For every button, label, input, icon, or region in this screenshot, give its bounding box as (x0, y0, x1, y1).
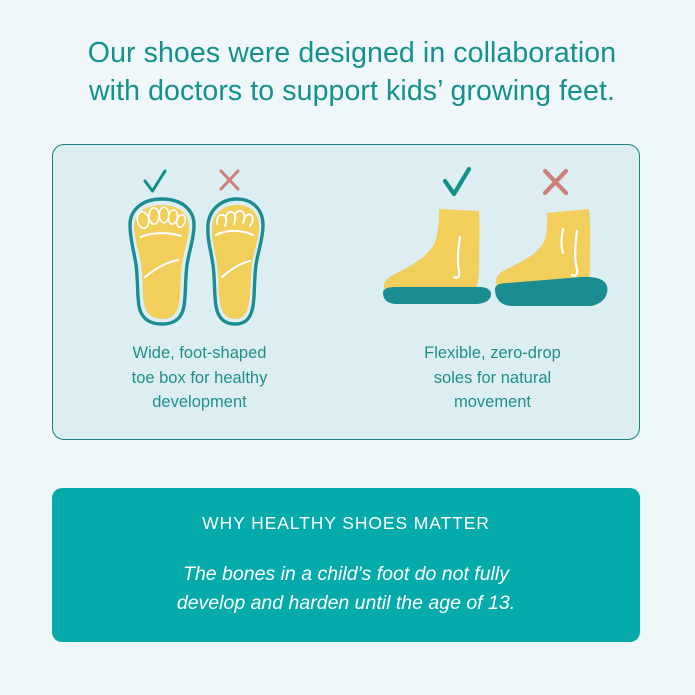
fact-body-line-1: The bones in a child’s foot do not fully (92, 560, 600, 589)
heeled-boot-shape (495, 209, 607, 306)
fact-body-line-2: develop and harden until the age of 13. (92, 589, 600, 618)
feature-card: Wide, foot-shaped toe box for healthy de… (52, 144, 640, 440)
caption-line-1: Wide, foot-shaped (53, 341, 346, 366)
fact-panel: WHY HEALTHY SHOES MATTER The bones in a … (52, 488, 640, 642)
check-icon (145, 171, 165, 191)
narrow-foot-shape (207, 199, 262, 324)
caption-line-3: movement (346, 390, 639, 415)
feature-column-toe-box: Wide, foot-shaped toe box for healthy de… (53, 145, 346, 439)
feature-column-soles: Flexible, zero-drop soles for natural mo… (346, 145, 639, 439)
feature-columns: Wide, foot-shaped toe box for healthy de… (53, 145, 639, 439)
cross-icon (221, 171, 238, 189)
infographic-page: Our shoes were designed in collaboration… (0, 0, 695, 695)
caption-line-2: toe box for healthy (53, 366, 346, 391)
headline-line-1: Our shoes were designed in collaboration (88, 37, 616, 69)
fact-panel-body: The bones in a child’s foot do not fully… (92, 560, 600, 618)
boots-illustration (346, 159, 639, 329)
soles-caption: Flexible, zero-drop soles for natural mo… (346, 341, 639, 415)
wide-foot-shape (130, 199, 194, 324)
feet-illustration (53, 159, 346, 329)
check-icon (445, 169, 469, 194)
caption-line-1: Flexible, zero-drop (346, 341, 639, 366)
headline-line-2: with doctors to support kids’ growing fe… (52, 72, 652, 110)
fact-panel-title: WHY HEALTHY SHOES MATTER (52, 513, 640, 534)
flat-boot-shape (383, 209, 491, 304)
caption-line-3: development (53, 390, 346, 415)
page-headline: Our shoes were designed in collaboration… (52, 34, 652, 110)
cross-icon (545, 171, 566, 193)
toe-box-caption: Wide, foot-shaped toe box for healthy de… (53, 341, 346, 415)
caption-line-2: soles for natural (346, 366, 639, 391)
